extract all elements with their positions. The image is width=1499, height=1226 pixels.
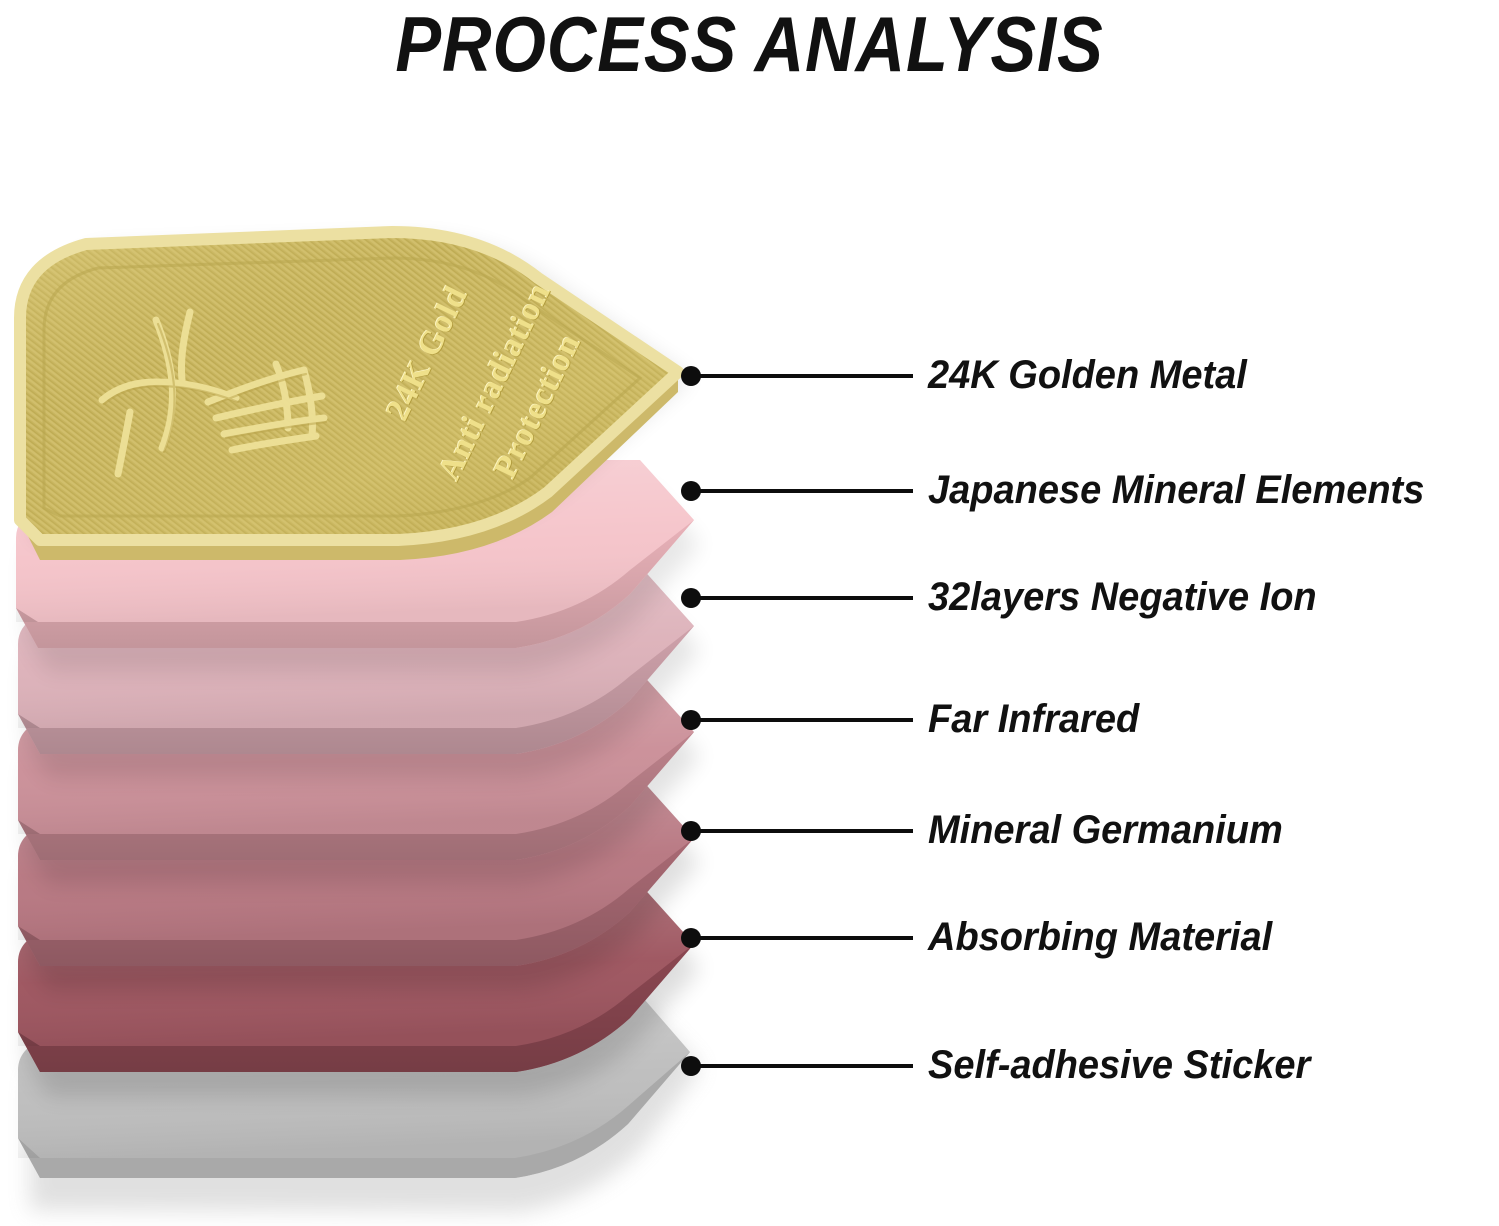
layer-shape-absorbing-material[interactable] xyxy=(18,884,700,1096)
leader-line-32layers-negative-ion xyxy=(691,596,913,600)
label-24k-golden-metal: 24K Golden Metal xyxy=(928,353,1247,397)
label-mineral-germanium: Mineral Germanium xyxy=(928,808,1283,852)
layer-shape-mineral-germanium[interactable] xyxy=(18,778,700,990)
layer-shape-32layers-negative-ion[interactable] xyxy=(18,566,700,778)
label-japanese-mineral-elements: Japanese Mineral Elements xyxy=(928,468,1424,512)
leader-line-24k-golden-metal xyxy=(691,374,913,378)
leader-line-self-adhesive-sticker xyxy=(691,1064,913,1068)
page-title: PROCESS ANALYSIS xyxy=(90,2,1409,86)
label-far-infrared: Far Infrared xyxy=(928,697,1139,741)
label-32layers-negative-ion: 32layers Negative Ion xyxy=(928,575,1317,619)
calligraphy-emblem-icon xyxy=(78,282,408,502)
leader-line-japanese-mineral-elements xyxy=(691,489,913,493)
diagram-canvas: PROCESS ANALYSIS xyxy=(0,0,1499,1226)
layer-shape-self-adhesive-sticker[interactable] xyxy=(18,992,700,1212)
leader-line-absorbing-material xyxy=(691,936,913,940)
layer-shape-far-infrared[interactable] xyxy=(18,672,700,884)
leader-line-far-infrared xyxy=(691,718,913,722)
leader-line-mineral-germanium xyxy=(691,829,913,833)
label-self-adhesive-sticker: Self-adhesive Sticker xyxy=(928,1043,1310,1087)
label-absorbing-material: Absorbing Material xyxy=(928,915,1272,959)
